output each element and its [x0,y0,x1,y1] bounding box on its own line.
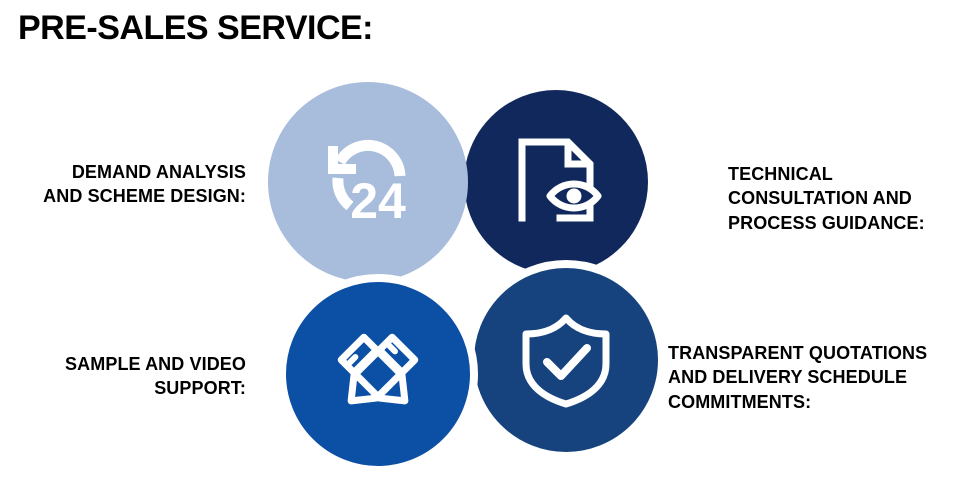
label-demand-analysis: DEMAND ANALYSIS AND SCHEME DESIGN: [0,160,246,209]
circle-sample-video[interactable] [278,274,478,474]
circle-cluster: 24 [268,82,688,482]
circle-technical-consultation[interactable] [456,82,656,282]
circle-transparent-quotations[interactable] [466,260,666,460]
hours-label: 24 [350,173,406,229]
circle-demand-analysis[interactable]: 24 [268,82,468,282]
label-sample-video: SAMPLE AND VIDEO SUPPORT: [0,352,246,401]
document-eye-icon [506,132,606,232]
page-title: PRE-SALES SERVICE: [18,10,373,47]
shield-check-icon [516,310,616,410]
label-transparent-quotations: TRANSPARENT QUOTATIONS AND DELIVERY SCHE… [668,341,960,414]
crossed-pencils-icon [326,322,430,426]
label-technical-consultation: TECHNICAL CONSULTATION AND PROCESS GUIDA… [728,162,960,235]
clock-24-arrow-icon: 24 [316,130,420,234]
